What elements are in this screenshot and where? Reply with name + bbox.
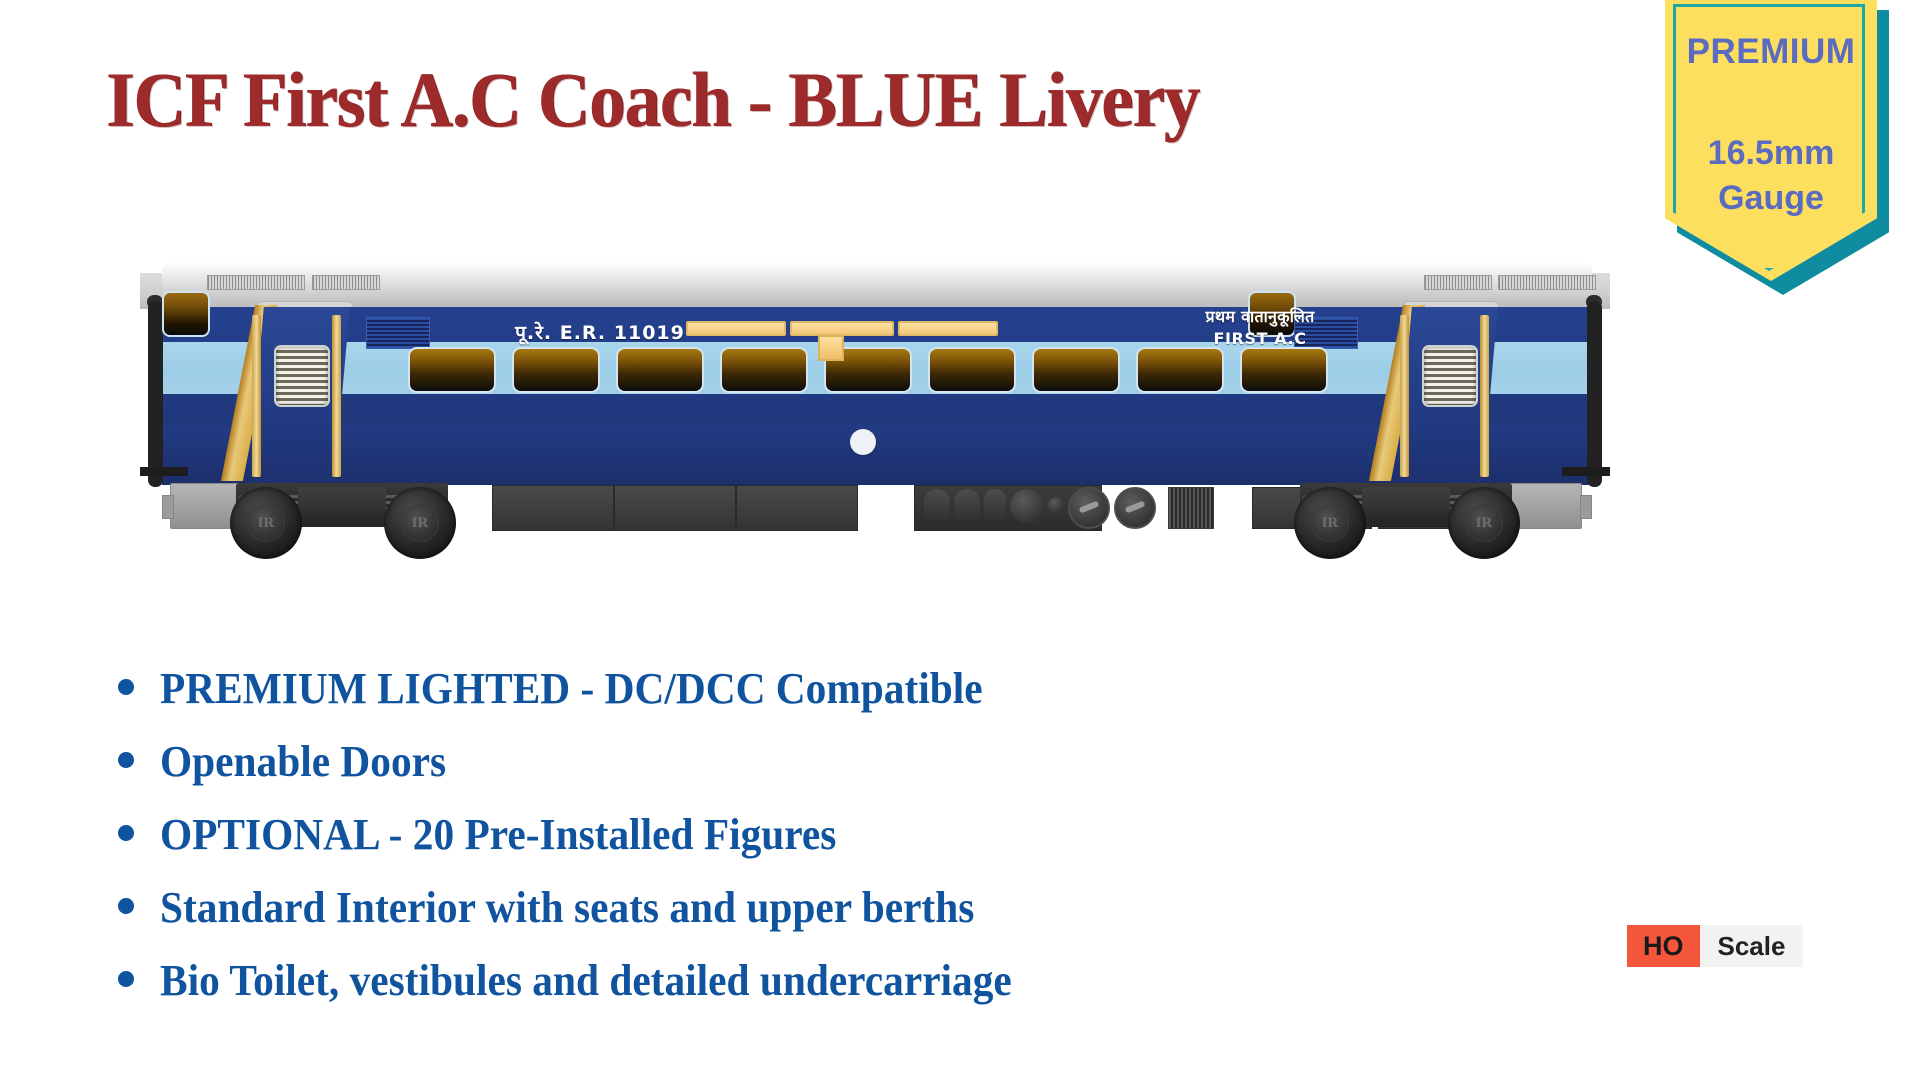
passenger-window <box>720 347 808 393</box>
door-louver-window <box>1422 345 1478 407</box>
wheel: IR <box>1294 487 1366 559</box>
wheel-hub-mark: IR <box>1465 504 1503 542</box>
air-tank <box>984 489 1006 523</box>
roof-vent-icon <box>1498 275 1596 290</box>
coach-door-right <box>1404 307 1490 485</box>
body-grille-left <box>366 317 430 349</box>
scale-word: Scale <box>1700 925 1804 967</box>
passenger-window <box>928 347 1016 393</box>
feature-list-item: OPTIONAL - 20 Pre-Installed Figures <box>118 801 1368 868</box>
end-post-left <box>148 301 163 487</box>
bullet-dot-icon <box>118 898 134 914</box>
roof-vent-icon <box>1424 275 1492 290</box>
scale-badge: HO Scale <box>1627 925 1803 967</box>
ribbon-premium-label: PREMIUM <box>1665 32 1877 72</box>
railway-marking: पू.रे. E.R. 11019 <box>470 319 730 345</box>
bogie-bolster <box>298 487 386 527</box>
coupler-left <box>162 495 174 519</box>
feature-text: Bio Toilet, vestibules and detailed unde… <box>160 947 1012 1014</box>
door-jamb-right <box>1480 315 1489 477</box>
wheel: IR <box>384 487 456 559</box>
footplate-left <box>140 467 188 476</box>
grab-rail-plate <box>818 335 844 361</box>
feature-text: Openable Doors <box>160 728 446 795</box>
bogie-left: IR IR <box>236 477 448 549</box>
ribbon-text-group: PREMIUM 16.5mm Gauge <box>1665 0 1877 218</box>
air-tank <box>954 489 980 523</box>
ribbon-gauge-label: Gauge <box>1665 179 1877 218</box>
feature-list-item: Openable Doors <box>118 728 1368 795</box>
class-marking-english: FIRST A.C <box>1140 329 1380 348</box>
battery-box <box>736 485 858 531</box>
feature-text: OPTIONAL - 20 Pre-Installed Figures <box>160 801 836 868</box>
class-marking: प्रथम वातानुकूलित FIRST A.C <box>1140 305 1380 348</box>
wheel: IR <box>1448 487 1520 559</box>
end-window-left <box>162 291 210 337</box>
coupler-right <box>1580 495 1592 519</box>
wheel: IR <box>230 487 302 559</box>
bogie-bolster <box>1362 487 1450 527</box>
class-marking-hindi: प्रथम वातानुकूलित <box>1140 305 1380 327</box>
passenger-window <box>408 347 496 393</box>
bullet-dot-icon <box>118 971 134 987</box>
grab-rail <box>790 321 894 336</box>
coach-door-left <box>256 307 342 485</box>
body-tail-lamp <box>850 429 876 455</box>
battery-box <box>614 485 736 531</box>
air-tank <box>924 489 950 523</box>
roof-vent-icon <box>312 275 380 290</box>
battery-box <box>492 485 614 531</box>
bullet-dot-icon <box>118 679 134 695</box>
door-jamb-right <box>332 315 341 477</box>
feature-list-item: Bio Toilet, vestibules and detailed unde… <box>118 947 1368 1014</box>
page-title: ICF First A.C Coach - BLUE Livery <box>106 58 1199 142</box>
passenger-window <box>1136 347 1224 393</box>
brake-cylinder <box>1048 497 1064 513</box>
feature-list-item: PREMIUM LIGHTED - DC/DCC Compatible <box>118 655 1368 722</box>
bullet-dot-icon <box>118 752 134 768</box>
wheel-hub-mark: IR <box>247 504 285 542</box>
wheel-hub-mark: IR <box>1311 504 1349 542</box>
brake-cylinder <box>1010 489 1044 523</box>
passenger-window <box>1240 347 1328 393</box>
alternator-fan-icon <box>1068 487 1110 529</box>
coach-roof <box>162 263 1592 307</box>
end-post-right <box>1587 301 1602 487</box>
feature-text: Standard Interior with seats and upper b… <box>160 874 974 941</box>
door-louver-window <box>274 345 330 407</box>
passenger-window <box>512 347 600 393</box>
premium-gauge-ribbon: PREMIUM 16.5mm Gauge <box>1665 0 1889 296</box>
bogie-right: IR IR <box>1300 477 1512 549</box>
door-jamb-left <box>1400 315 1409 477</box>
passenger-window <box>616 347 704 393</box>
door-jamb-left <box>252 315 261 477</box>
ribbon-gauge-value: 16.5mm <box>1665 134 1877 173</box>
underframe-grille <box>1168 487 1214 529</box>
alternator-fan-icon <box>1114 487 1156 529</box>
grab-rail <box>898 321 998 336</box>
coach-illustration: पू.रे. E.R. 11019 प्रथम वातानुकूलित FIRS… <box>140 255 1610 545</box>
scale-code: HO <box>1627 925 1700 967</box>
feature-list: PREMIUM LIGHTED - DC/DCC CompatibleOpena… <box>118 655 1368 1020</box>
wheel-hub-mark: IR <box>401 504 439 542</box>
footplate-right <box>1562 467 1610 476</box>
passenger-window <box>1032 347 1120 393</box>
feature-list-item: Standard Interior with seats and upper b… <box>118 874 1368 941</box>
roof-vent-icon <box>207 275 305 290</box>
bullet-dot-icon <box>118 825 134 841</box>
slide-canvas: ICF First A.C Coach - BLUE Livery PREMIU… <box>0 0 1920 1080</box>
feature-text: PREMIUM LIGHTED - DC/DCC Compatible <box>160 655 983 722</box>
